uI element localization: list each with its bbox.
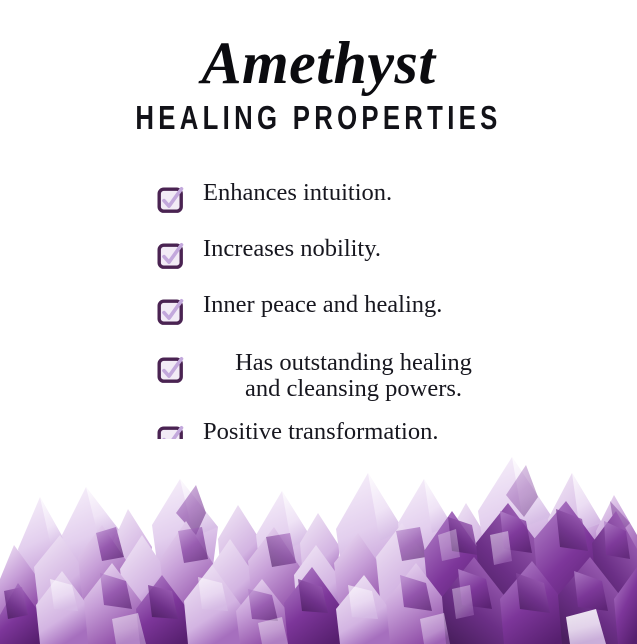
poster-header: Amethyst HEALING PROPERTIES <box>0 0 637 134</box>
poster-canvas: Amethyst HEALING PROPERTIES Enhances int… <box>0 0 637 644</box>
checked-checkbox-icon <box>157 243 185 271</box>
list-item: Has outstanding healing and cleansing po… <box>0 350 637 403</box>
list-item-label: Inner peace and healing. <box>203 292 597 318</box>
checked-checkbox-icon <box>157 187 185 215</box>
list-item-label: Increases nobility. <box>203 236 597 262</box>
list-item-label: Has outstanding healing and cleansing po… <box>190 350 517 403</box>
page-subtitle: HEALING PROPERTIES <box>70 95 567 134</box>
checked-checkbox-icon <box>157 299 185 327</box>
page-title: Amethyst <box>0 0 637 95</box>
list-item: Enhances intuition. <box>0 180 637 214</box>
amethyst-crystal-image <box>0 439 637 644</box>
list-item: Increases nobility. <box>0 236 637 270</box>
checked-checkbox-icon <box>157 357 185 385</box>
benefits-list: Enhances intuition. Increases nobility. … <box>0 180 637 453</box>
list-item-label: Enhances intuition. <box>203 180 597 206</box>
list-item: Inner peace and healing. <box>0 292 637 326</box>
